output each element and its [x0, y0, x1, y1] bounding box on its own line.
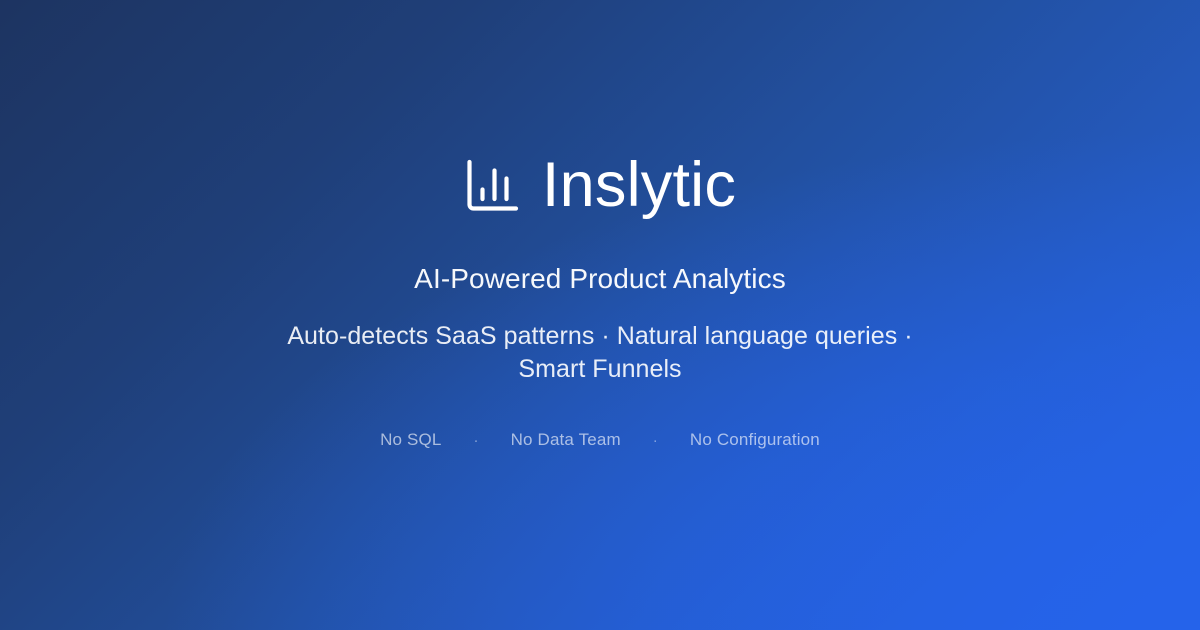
bar-chart-icon [464, 158, 520, 214]
feature-item-no-sql: No SQL [380, 430, 441, 450]
feature-item-no-data-team: No Data Team [511, 430, 621, 450]
hero-banner: Inslytic AI-Powered Product Analytics Au… [0, 0, 1200, 630]
page-title: AI-Powered Product Analytics [414, 261, 786, 296]
feature-separator: · [621, 433, 690, 448]
feature-item-no-configuration: No Configuration [690, 430, 820, 450]
brand-logo: Inslytic [464, 154, 736, 217]
feature-separator: · [441, 433, 510, 448]
brand-name: Inslytic [542, 154, 736, 217]
feature-list: No SQL · No Data Team · No Configuration [380, 430, 820, 450]
hero-tagline: Auto-detects SaaS patterns · Natural lan… [275, 320, 925, 386]
